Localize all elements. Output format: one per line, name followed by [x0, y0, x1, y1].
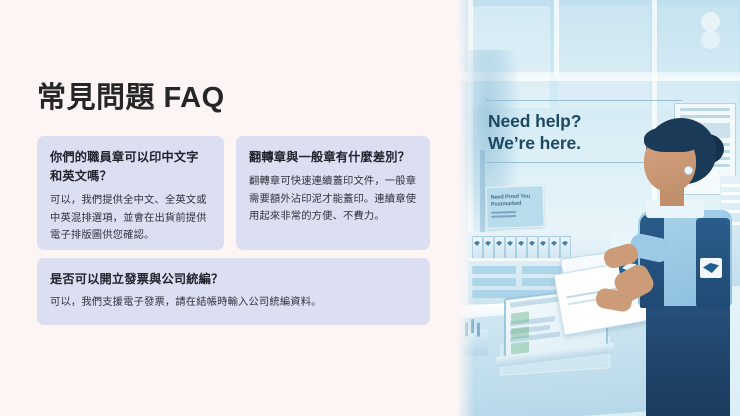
mail-slot	[560, 236, 571, 259]
eagle-icon	[496, 241, 502, 246]
sign-line	[491, 215, 516, 218]
wall-decal-icon	[701, 30, 720, 49]
eagle-icon	[474, 241, 480, 246]
page-title: 常見問題 FAQ	[37, 80, 225, 116]
counter-sign-line-2: Postmarked	[491, 201, 539, 210]
uniform-patch	[700, 258, 722, 278]
pen-icon	[477, 323, 480, 337]
faq-card[interactable]: 是否可以開立發票與公司統編？ 可以，我們支援電子發票，請在結帳時輸入公司統編資料…	[37, 258, 430, 325]
poster-line	[680, 108, 730, 111]
window-mullion	[554, 0, 559, 76]
faq-content-panel: 常見問題 FAQ 你們的職員章可以印中文字和英文嗎？ 可以，我們提供全中文、全英…	[0, 0, 458, 416]
eagle-icon	[518, 241, 524, 246]
mail-tray	[522, 266, 562, 274]
eagle-icon	[540, 241, 546, 246]
mail-slot	[483, 236, 494, 259]
illustration-edge-fade	[458, 0, 474, 416]
faq-slide: 常見問題 FAQ 你們的職員章可以印中文字和英文嗎？ 可以，我們提供全中文、全英…	[0, 0, 740, 416]
eagle-icon	[551, 241, 557, 246]
eagle-icon	[703, 263, 719, 273]
mail-slot	[494, 236, 505, 259]
faq-question: 你們的職員章可以印中文字和英文嗎？	[50, 148, 211, 186]
clerk-hair-front	[644, 126, 698, 152]
mail-slot	[538, 236, 549, 259]
counter-sign: Need Proof You Postmarked	[485, 185, 544, 229]
post-office-illustration: Need help? We’re here.	[458, 0, 740, 416]
faq-card[interactable]: 你們的職員章可以印中文字和英文嗎？ 可以，我們提供全中文、全英文或中英混排選項，…	[37, 136, 224, 250]
counter-sign-text: Need Proof You Postmarked	[486, 186, 543, 210]
wall-decal-icon	[701, 12, 720, 31]
mail-tray	[472, 266, 516, 274]
postal-clerk	[630, 118, 740, 416]
faq-answer: 可以，我們支援電子發票，請在結帳時輸入公司統編資料。	[50, 294, 417, 312]
window-pane	[558, 6, 650, 108]
mail-slot	[516, 236, 527, 259]
earring-icon	[684, 166, 693, 175]
screen-chip	[511, 326, 529, 339]
faq-answer: 可以，我們提供全中文、全英文或中英混排選項，並會在出貨前提供電子排版圖供您確認。	[50, 192, 211, 245]
screen-chip	[511, 311, 529, 324]
faq-question: 是否可以開立發票與公司統編？	[50, 270, 417, 289]
eagle-icon	[529, 241, 535, 246]
eagle-icon	[562, 241, 568, 246]
mail-slot	[549, 236, 560, 259]
mail-slot	[527, 236, 538, 259]
faq-card[interactable]: 翻轉章與一般章有什麼差別？ 翻轉章可快速連續蓋印文件，一般章需要額外沾印泥才能蓋…	[236, 136, 430, 250]
eagle-icon	[485, 241, 491, 246]
faq-answer: 翻轉章可快速連續蓋印文件，一般章需要額外沾印泥才能蓋印。連續章使用起來非常的方便…	[249, 173, 417, 226]
clerk-trousers	[646, 300, 730, 416]
divider-top	[486, 100, 682, 101]
window-pane	[658, 6, 738, 108]
mail-tray	[472, 278, 516, 286]
sign-line	[491, 211, 516, 214]
faq-question: 翻轉章與一般章有什麼差別？	[249, 148, 417, 167]
eagle-icon	[507, 241, 513, 246]
mail-slot	[505, 236, 516, 259]
